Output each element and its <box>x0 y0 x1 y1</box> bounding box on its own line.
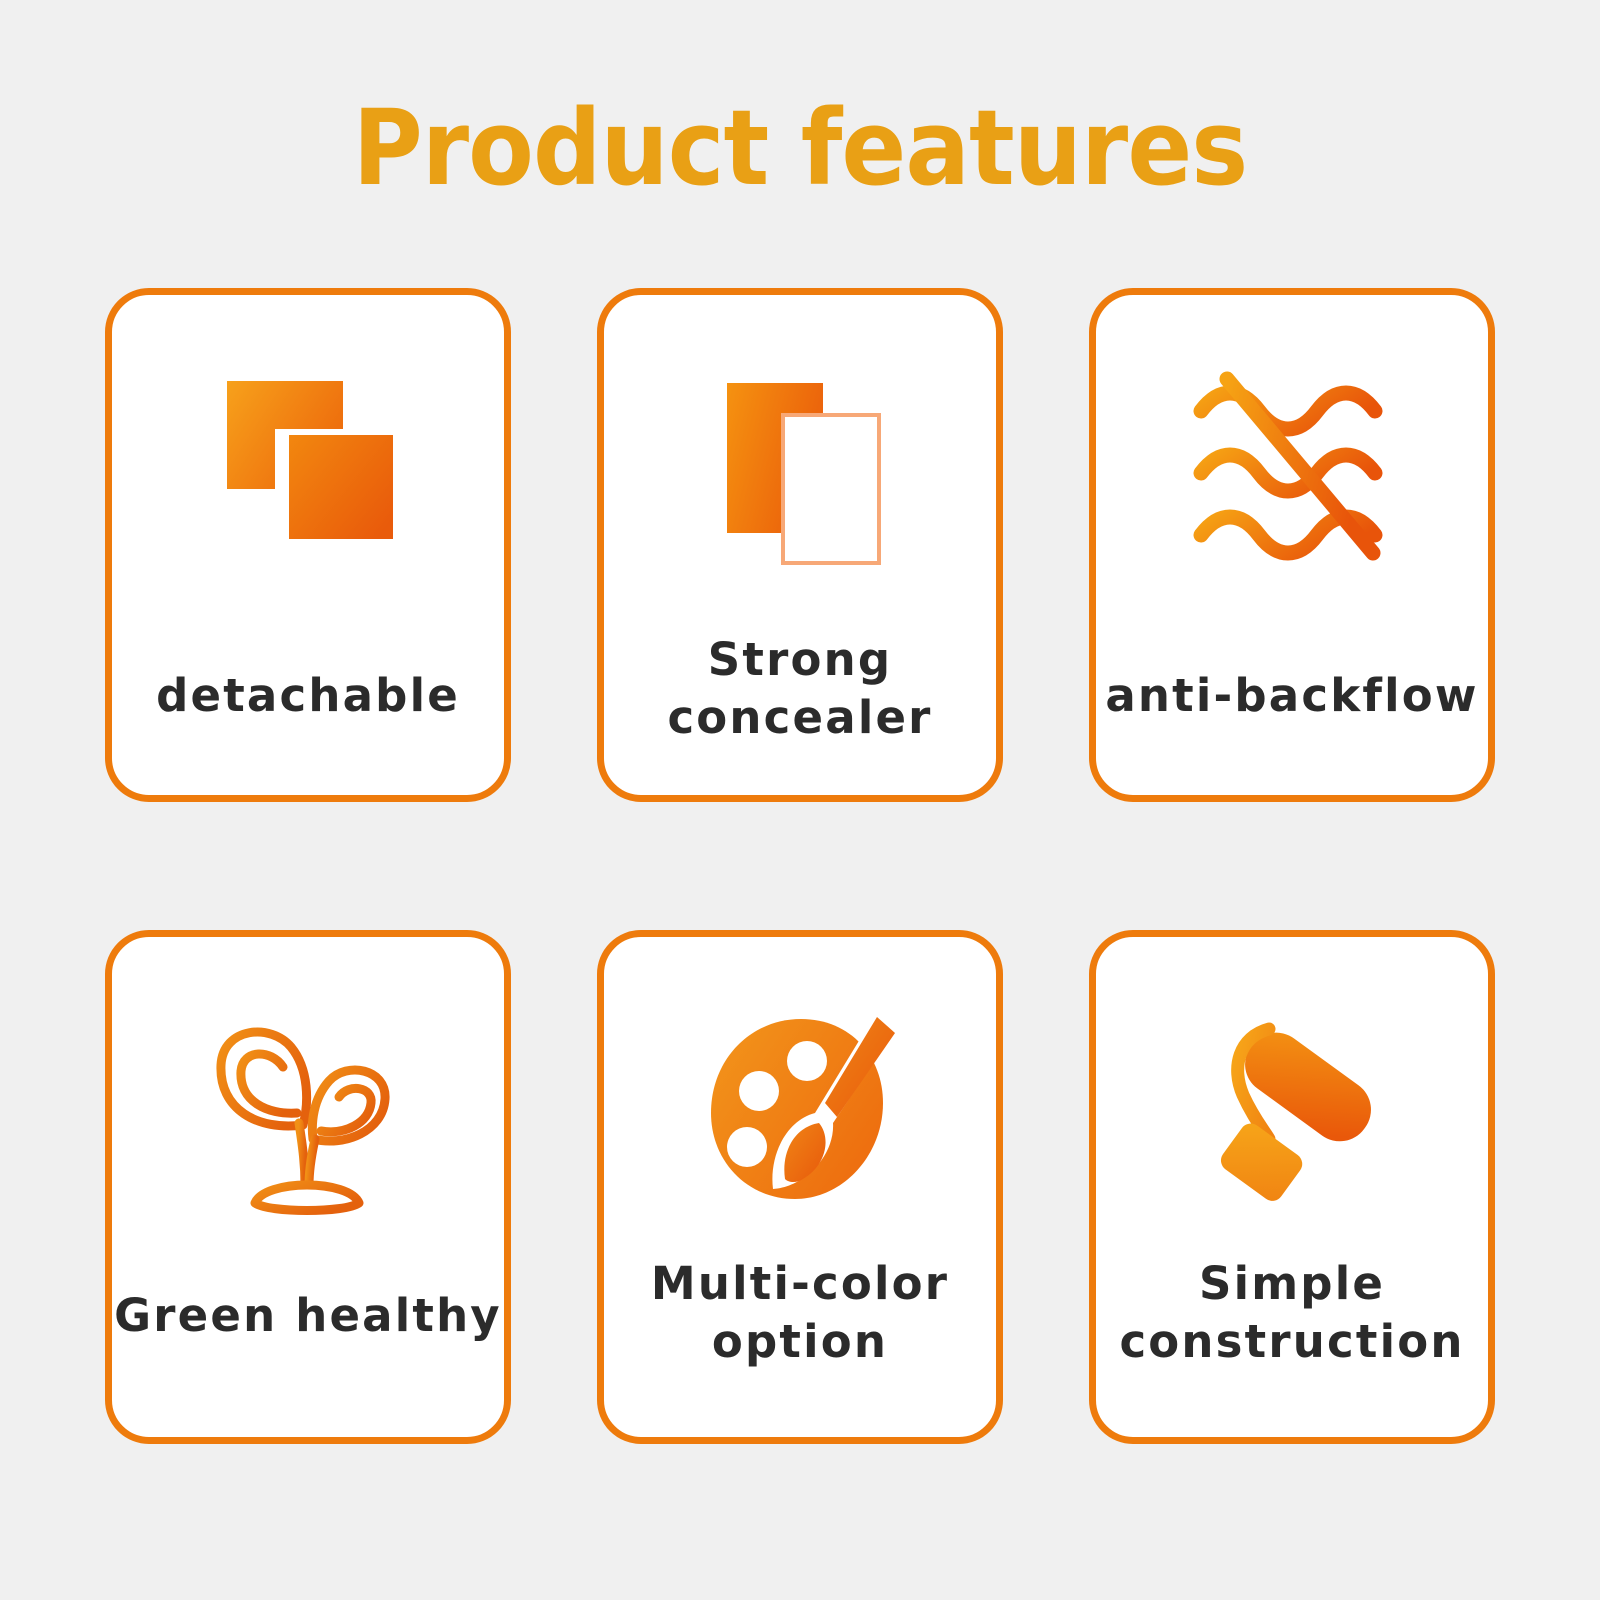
feature-card-multi-color-option[interactable]: Multi-color option <box>597 930 1003 1444</box>
feature-card-label: Green healthy <box>90 1287 526 1345</box>
feature-card-green-healthy[interactable]: Green healthy <box>105 930 511 1444</box>
feature-card-label: detachable <box>90 667 526 725</box>
feature-card-grid: detachable Strong concea <box>105 288 1495 1444</box>
feature-card-label: Strong concealer <box>582 631 1018 746</box>
feature-card-detachable[interactable]: detachable <box>105 288 511 802</box>
feature-card-label: anti-backflow <box>1074 667 1510 725</box>
sprout-icon <box>193 999 423 1229</box>
page-title: Product features <box>64 96 1536 200</box>
feature-card-label: Multi-color option <box>582 1255 1018 1370</box>
paint-palette-brush-icon <box>685 999 915 1229</box>
two-overlapping-squares-icon <box>193 357 423 587</box>
feature-card-simple-construction[interactable]: Simple construction <box>1089 930 1495 1444</box>
feature-card-label: Simple construction <box>1074 1255 1510 1370</box>
filled-and-outlined-sheet-icon <box>685 357 915 587</box>
paint-roller-icon <box>1177 999 1407 1229</box>
product-features-page: Product features <box>0 0 1600 1600</box>
feature-card-strong-concealer[interactable]: Strong concealer <box>597 288 1003 802</box>
feature-card-anti-backflow[interactable]: anti-backflow <box>1089 288 1495 802</box>
no-water-waves-icon <box>1177 357 1407 587</box>
